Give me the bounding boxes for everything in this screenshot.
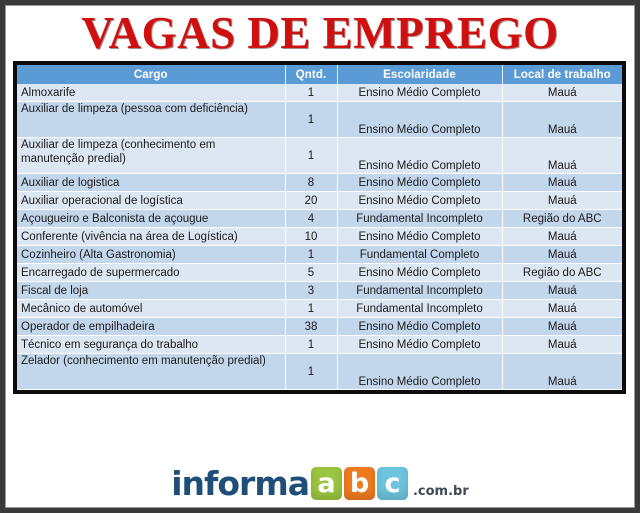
cell-local: Mauá bbox=[502, 246, 622, 264]
jobs-table: Cargo Qntd. Escolaridade Local de trabal… bbox=[17, 65, 622, 390]
cell-cargo: Fiscal de loja bbox=[17, 282, 285, 300]
cell-local: Mauá bbox=[502, 138, 622, 174]
cell-cargo: Auxiliar operacional de logística bbox=[17, 192, 285, 210]
informaabc-logo[interactable]: informa a b c .com.br bbox=[171, 460, 469, 500]
table-row[interactable]: Auxiliar de logistica8Ensino Médio Compl… bbox=[17, 174, 622, 192]
cell-qntd: 1 bbox=[285, 246, 337, 264]
cell-qntd: 1 bbox=[285, 84, 337, 102]
logo-tile-b: b bbox=[344, 467, 375, 500]
cell-qntd: 38 bbox=[285, 318, 337, 336]
table-row[interactable]: Açougueiro e Balconista de açougue4Funda… bbox=[17, 210, 622, 228]
table-row[interactable]: Técnico em segurança do trabalho1Ensino … bbox=[17, 336, 622, 354]
table-row[interactable]: Conferente (vivência na área de Logístic… bbox=[17, 228, 622, 246]
site-logo-strip: informa a b c .com.br bbox=[6, 452, 634, 507]
cell-qntd: 20 bbox=[285, 192, 337, 210]
cell-cargo: Auxiliar de limpeza (conhecimento em man… bbox=[17, 138, 285, 174]
cell-escolaridade: Fundamental Completo bbox=[337, 246, 502, 264]
cell-qntd: 1 bbox=[285, 102, 337, 138]
cell-cargo: Encarregado de supermercado bbox=[17, 264, 285, 282]
table-row[interactable]: Fiscal de loja3Fundamental IncompletoMau… bbox=[17, 282, 622, 300]
cell-escolaridade: Ensino Médio Completo bbox=[337, 354, 502, 390]
jobs-table-header: Cargo Qntd. Escolaridade Local de trabal… bbox=[17, 65, 622, 84]
cell-cargo: Operador de empilhadeira bbox=[17, 318, 285, 336]
cell-cargo: Zelador (conhecimento em manutenção pred… bbox=[17, 354, 285, 390]
page-title: VAGAS DE EMPREGO bbox=[81, 11, 558, 56]
column-header-cargo[interactable]: Cargo bbox=[17, 65, 285, 84]
column-header-local[interactable]: Local de trabalho bbox=[502, 65, 622, 84]
cell-cargo: Açougueiro e Balconista de açougue bbox=[17, 210, 285, 228]
table-row[interactable]: Encarregado de supermercado5Ensino Médio… bbox=[17, 264, 622, 282]
cell-escolaridade: Ensino Médio Completo bbox=[337, 192, 502, 210]
cell-qntd: 5 bbox=[285, 264, 337, 282]
cell-local: Mauá bbox=[502, 318, 622, 336]
table-row[interactable]: Almoxarife1Ensino Médio CompletoMauá bbox=[17, 84, 622, 102]
logo-tile-a: a bbox=[311, 467, 342, 500]
cell-escolaridade: Fundamental Incompleto bbox=[337, 300, 502, 318]
cell-qntd: 4 bbox=[285, 210, 337, 228]
logo-tld: .com.br bbox=[413, 485, 469, 498]
cell-qntd: 1 bbox=[285, 336, 337, 354]
cell-local: Mauá bbox=[502, 192, 622, 210]
cell-cargo: Cozinheiro (Alta Gastronomia) bbox=[17, 246, 285, 264]
cell-escolaridade: Ensino Médio Completo bbox=[337, 102, 502, 138]
cell-qntd: 8 bbox=[285, 174, 337, 192]
cell-cargo: Técnico em segurança do trabalho bbox=[17, 336, 285, 354]
cell-qntd: 3 bbox=[285, 282, 337, 300]
cell-local: Mauá bbox=[502, 354, 622, 390]
cell-local: Região do ABC bbox=[502, 210, 622, 228]
table-row[interactable]: Auxiliar operacional de logística20Ensin… bbox=[17, 192, 622, 210]
logo-tile-c: c bbox=[377, 467, 408, 500]
jobs-table-body: Almoxarife1Ensino Médio CompletoMauáAuxi… bbox=[17, 84, 622, 390]
cell-local: Mauá bbox=[502, 228, 622, 246]
cell-escolaridade: Ensino Médio Completo bbox=[337, 318, 502, 336]
cell-cargo: Auxiliar de logistica bbox=[17, 174, 285, 192]
cell-cargo: Conferente (vivência na área de Logístic… bbox=[17, 228, 285, 246]
cell-local: Mauá bbox=[502, 102, 622, 138]
table-row[interactable]: Zelador (conhecimento em manutenção pred… bbox=[17, 354, 622, 390]
cell-cargo: Mecânico de automóvel bbox=[17, 300, 285, 318]
jobs-table-container: Cargo Qntd. Escolaridade Local de trabal… bbox=[13, 61, 626, 394]
cell-qntd: 1 bbox=[285, 138, 337, 174]
column-header-qntd[interactable]: Qntd. bbox=[285, 65, 337, 84]
cell-qntd: 10 bbox=[285, 228, 337, 246]
cell-qntd: 1 bbox=[285, 354, 337, 390]
logo-wordmark: informa bbox=[171, 467, 309, 500]
cell-escolaridade: Fundamental Incompleto bbox=[337, 282, 502, 300]
poster-title-band: VAGAS DE EMPREGO bbox=[6, 6, 634, 60]
cell-qntd: 1 bbox=[285, 300, 337, 318]
cell-escolaridade: Fundamental Incompleto bbox=[337, 210, 502, 228]
cell-local: Mauá bbox=[502, 174, 622, 192]
cell-local: Mauá bbox=[502, 282, 622, 300]
cell-local: Mauá bbox=[502, 300, 622, 318]
table-header-row: Cargo Qntd. Escolaridade Local de trabal… bbox=[17, 65, 622, 84]
poster-page: VAGAS DE EMPREGO Cargo Qntd. Escolaridad… bbox=[0, 0, 640, 513]
table-row[interactable]: Auxiliar de limpeza (conhecimento em man… bbox=[17, 138, 622, 174]
table-row[interactable]: Operador de empilhadeira38Ensino Médio C… bbox=[17, 318, 622, 336]
cell-escolaridade: Ensino Médio Completo bbox=[337, 138, 502, 174]
cell-escolaridade: Ensino Médio Completo bbox=[337, 264, 502, 282]
table-row[interactable]: Cozinheiro (Alta Gastronomia)1Fundamenta… bbox=[17, 246, 622, 264]
cell-escolaridade: Ensino Médio Completo bbox=[337, 228, 502, 246]
cell-local: Mauá bbox=[502, 84, 622, 102]
cell-cargo: Almoxarife bbox=[17, 84, 285, 102]
cell-escolaridade: Ensino Médio Completo bbox=[337, 84, 502, 102]
column-header-escolaridade[interactable]: Escolaridade bbox=[337, 65, 502, 84]
table-row[interactable]: Mecânico de automóvel1Fundamental Incomp… bbox=[17, 300, 622, 318]
cell-escolaridade: Ensino Médio Completo bbox=[337, 174, 502, 192]
cell-local: Mauá bbox=[502, 336, 622, 354]
table-row[interactable]: Auxiliar de limpeza (pessoa com deficiên… bbox=[17, 102, 622, 138]
cell-cargo: Auxiliar de limpeza (pessoa com deficiên… bbox=[17, 102, 285, 138]
cell-escolaridade: Ensino Médio Completo bbox=[337, 336, 502, 354]
cell-local: Região do ABC bbox=[502, 264, 622, 282]
